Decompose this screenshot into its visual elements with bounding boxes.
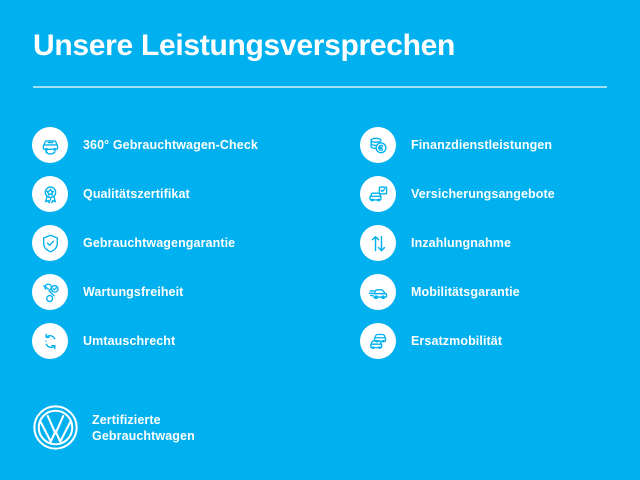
list-item: 360° Gebrauchtwagen-Check	[32, 127, 332, 163]
list-item-label: Wartungsfreiheit	[83, 285, 183, 299]
list-item-label: Gebrauchtwagengarantie	[83, 236, 235, 250]
list-item: Qualitätszertifikat	[32, 176, 332, 212]
list-item: Versicherungsangebote	[360, 176, 635, 212]
footer-brand-text: Zertifizierte Gebrauchtwagen	[92, 412, 195, 444]
promise-panel: Unsere Leistungsversprechen 360° Gebrauc…	[0, 0, 640, 480]
benefits-column-right: Finanzdienstleistungen Versicherungsange…	[360, 127, 635, 359]
benefits-column-left: 360° Gebrauchtwagen-Check Qualitätszerti…	[32, 127, 332, 359]
up-down-arrows-icon	[360, 225, 396, 261]
list-item-label: Versicherungsangebote	[411, 187, 555, 201]
list-item-label: Mobilitätsgarantie	[411, 285, 520, 299]
footer-line-1: Zertifizierte	[92, 413, 161, 427]
list-item: Umtauschrecht	[32, 323, 332, 359]
car-document-icon	[360, 176, 396, 212]
award-rosette-icon	[32, 176, 68, 212]
list-item-label: 360° Gebrauchtwagen-Check	[83, 138, 258, 152]
list-item-label: Ersatzmobilität	[411, 334, 502, 348]
list-item: Gebrauchtwagengarantie	[32, 225, 332, 261]
list-item-label: Umtauschrecht	[83, 334, 175, 348]
list-item-label: Qualitätszertifikat	[83, 187, 190, 201]
list-item: Ersatzmobilität	[360, 323, 635, 359]
footer-line-2: Gebrauchtwagen	[92, 429, 195, 443]
car-motion-icon	[360, 274, 396, 310]
wrench-check-icon	[32, 274, 68, 310]
header: Unsere Leistungsversprechen	[33, 28, 607, 64]
list-item: Inzahlungnahme	[360, 225, 635, 261]
car-check-360-icon	[32, 127, 68, 163]
shield-check-icon	[32, 225, 68, 261]
exchange-arrows-icon	[32, 323, 68, 359]
list-item: Finanzdienstleistungen	[360, 127, 635, 163]
volkswagen-logo	[32, 404, 79, 451]
list-item: Mobilitätsgarantie	[360, 274, 635, 310]
coins-euro-icon	[360, 127, 396, 163]
list-item-label: Finanzdienstleistungen	[411, 138, 552, 152]
list-item: Wartungsfreiheit	[32, 274, 332, 310]
two-cars-icon	[360, 323, 396, 359]
page-title: Unsere Leistungsversprechen	[33, 28, 607, 64]
footer-brand: Zertifizierte Gebrauchtwagen	[32, 404, 195, 451]
header-divider	[33, 86, 607, 88]
list-item-label: Inzahlungnahme	[411, 236, 511, 250]
